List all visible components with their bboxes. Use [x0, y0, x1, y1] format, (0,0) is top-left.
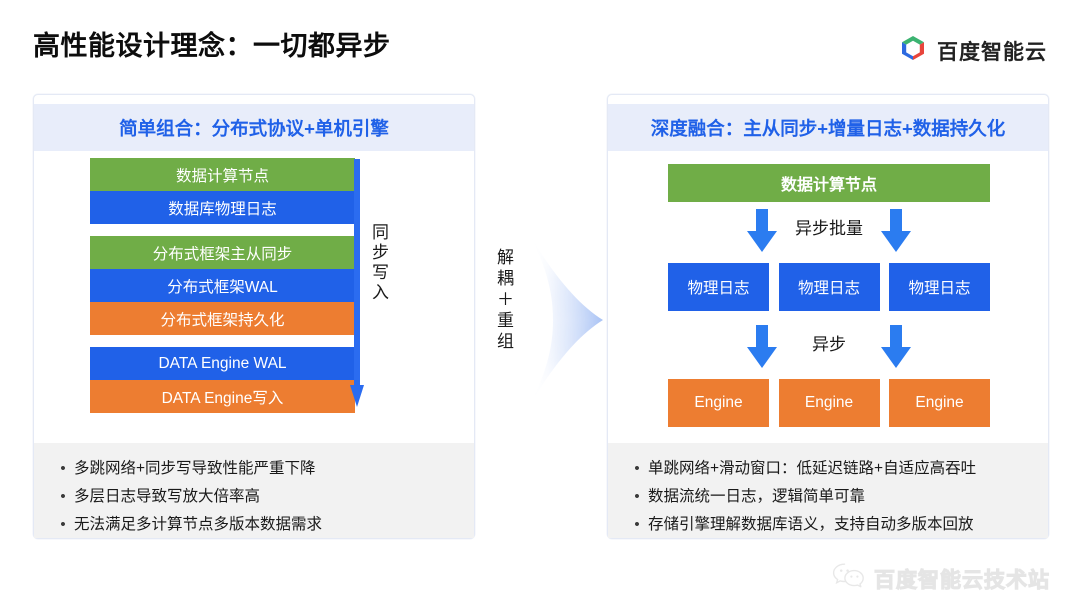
layer-gap	[90, 224, 355, 236]
async-arrow-band: 异步	[668, 323, 990, 371]
sync-write-arrow-icon	[350, 159, 364, 409]
slide-canvas: 高性能设计理念：一切都异步 百度智能云 简单组合：分布式协议+单机引擎 数据计算…	[0, 0, 1080, 608]
layer-box: 分布式框架WAL	[90, 269, 355, 302]
engine-box: Engine	[668, 379, 769, 427]
note-text: 无法满足多计算节点多版本数据需求	[74, 512, 322, 537]
watermark-text: 百度智能云技术站	[874, 564, 1050, 594]
watermark: 百度智能云技术站	[832, 562, 1050, 595]
sync-write-label: 同步写入	[370, 223, 387, 303]
bullet-icon: •	[52, 456, 74, 481]
note-text: 数据流统一日志，逻辑简单可靠	[648, 484, 865, 509]
bullet-icon: •	[626, 456, 648, 481]
layer-box: 数据计算节点	[90, 158, 355, 191]
left-panel-notes: •多跳网络+同步写导致性能严重下降•多层日志导致写放大倍率高•无法满足多计算节点…	[34, 443, 474, 538]
layer-box: 分布式框架主从同步	[90, 236, 355, 269]
note-item: •多层日志导致写放大倍率高	[52, 484, 474, 509]
note-item: •多跳网络+同步写导致性能严重下降	[52, 456, 474, 481]
right-panel-header-text: 深度融合：主从同步+增量日志+数据持久化	[651, 115, 1006, 141]
layer-box: 数据库物理日志	[90, 191, 355, 224]
left-panel-header: 简单组合：分布式协议+单机引擎	[34, 104, 474, 151]
bullet-icon: •	[52, 484, 74, 509]
page-title: 高性能设计理念：一切都异步	[33, 24, 391, 63]
down-arrow-icon	[879, 209, 913, 253]
down-arrow-icon	[879, 325, 913, 369]
right-panel-header: 深度融合：主从同步+增量日志+数据持久化	[608, 104, 1048, 151]
physical-log-row: 物理日志物理日志物理日志	[668, 263, 990, 311]
async-batch-arrow-band: 异步批量	[668, 207, 990, 255]
physical-log-box: 物理日志	[779, 263, 880, 311]
layer-box: DATA Engine WAL	[90, 347, 355, 380]
note-item: •存储引擎理解数据库语义，支持自动多版本回放	[626, 512, 1048, 537]
bullet-icon: •	[626, 512, 648, 537]
left-layer-stack: 数据计算节点数据库物理日志分布式框架主从同步分布式框架WAL分布式框架持久化DA…	[90, 158, 355, 413]
layer-gap	[90, 335, 355, 347]
right-panel-notes: •单跳网络+滑动窗口：低延迟链路+自适应高吞吐•数据流统一日志，逻辑简单可靠•存…	[608, 443, 1048, 538]
transition-label: 解耦＋重组	[495, 248, 512, 353]
note-text: 多层日志导致写放大倍率高	[74, 484, 260, 509]
wechat-icon	[832, 562, 866, 595]
async-label: 异步	[668, 330, 990, 355]
bullet-icon: •	[52, 512, 74, 537]
async-batch-label: 异步批量	[668, 214, 990, 239]
note-text: 存储引擎理解数据库语义，支持自动多版本回放	[648, 512, 974, 537]
transition-group: 解耦＋重组	[487, 230, 607, 410]
physical-log-box: 物理日志	[668, 263, 769, 311]
right-panel-body: 数据计算节点 异步批量 物理日志物理日志物理日志 异步	[608, 151, 1048, 443]
compute-node-box: 数据计算节点	[668, 164, 990, 202]
physical-log-box: 物理日志	[889, 263, 990, 311]
layer-box: DATA Engine写入	[90, 380, 355, 413]
engine-box: Engine	[889, 379, 990, 427]
layer-box: 分布式框架持久化	[90, 302, 355, 335]
curved-right-arrow-icon	[523, 230, 607, 410]
note-item: •单跳网络+滑动窗口：低延迟链路+自适应高吞吐	[626, 456, 1048, 481]
engine-row: EngineEngineEngine	[668, 379, 990, 427]
left-panel-body: 数据计算节点数据库物理日志分布式框架主从同步分布式框架WAL分布式框架持久化DA…	[34, 151, 474, 443]
brand-name: 百度智能云	[937, 36, 1047, 66]
note-item: •数据流统一日志，逻辑简单可靠	[626, 484, 1048, 509]
note-text: 多跳网络+同步写导致性能严重下降	[74, 456, 316, 481]
left-panel-header-text: 简单组合：分布式协议+单机引擎	[119, 115, 389, 141]
right-panel: 深度融合：主从同步+增量日志+数据持久化 数据计算节点 异步批量 物理日志物理日…	[607, 94, 1049, 539]
note-text: 单跳网络+滑动窗口：低延迟链路+自适应高吞吐	[648, 456, 976, 481]
brand-logo: 百度智能云	[898, 33, 1047, 68]
note-item: •无法满足多计算节点多版本数据需求	[52, 512, 474, 537]
left-panel: 简单组合：分布式协议+单机引擎 数据计算节点数据库物理日志分布式框架主从同步分布…	[33, 94, 475, 539]
engine-box: Engine	[779, 379, 880, 427]
bullet-icon: •	[626, 484, 648, 509]
baidu-cloud-cube-icon	[898, 33, 928, 68]
